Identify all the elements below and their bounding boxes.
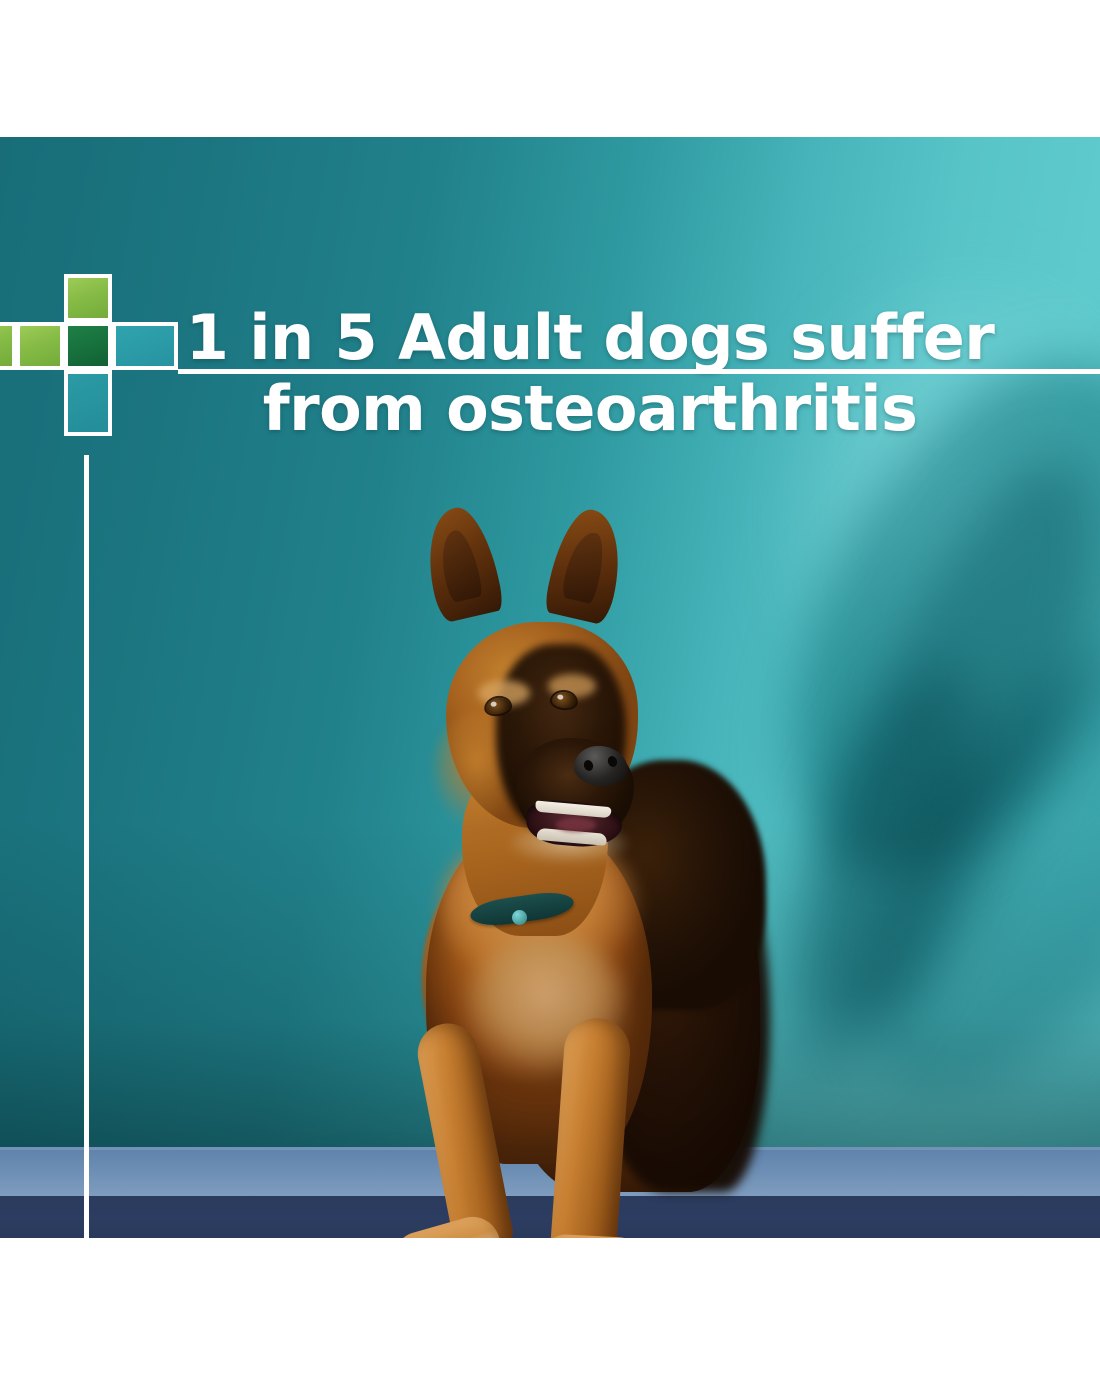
promo-banner: 1 in 5 Adult dogs suffer from osteoarthr… <box>0 0 1100 1375</box>
leaf-cross-logo[interactable] <box>0 274 178 459</box>
dog-photo <box>330 502 760 1192</box>
table-front-edge <box>0 1196 1100 1238</box>
logo-tile-right-arm <box>112 322 178 370</box>
dog-ear-left <box>416 502 505 624</box>
logo-tile-top-arm <box>64 274 112 322</box>
logo-tile-left-arm <box>16 322 64 370</box>
dog-ear-right <box>542 504 631 626</box>
dog-ear-inner-right <box>560 529 609 605</box>
vertical-rule <box>84 455 89 1238</box>
logo-tile-bottom-arm <box>64 370 112 436</box>
dog-tongue <box>556 818 596 832</box>
headline-line-1: 1 in 5 Adult dogs suffer <box>186 301 994 374</box>
dog-ear-inner-left <box>435 527 484 603</box>
logo-tile-left-arm-outer <box>0 322 16 370</box>
dog-collar-tag <box>512 910 527 925</box>
horizontal-rule <box>178 369 1100 374</box>
headline-line-2: from osteoarthritis <box>110 374 1070 445</box>
logo-tile-center <box>64 322 112 370</box>
artwork-panel: 1 in 5 Adult dogs suffer from osteoarthr… <box>0 137 1100 1238</box>
